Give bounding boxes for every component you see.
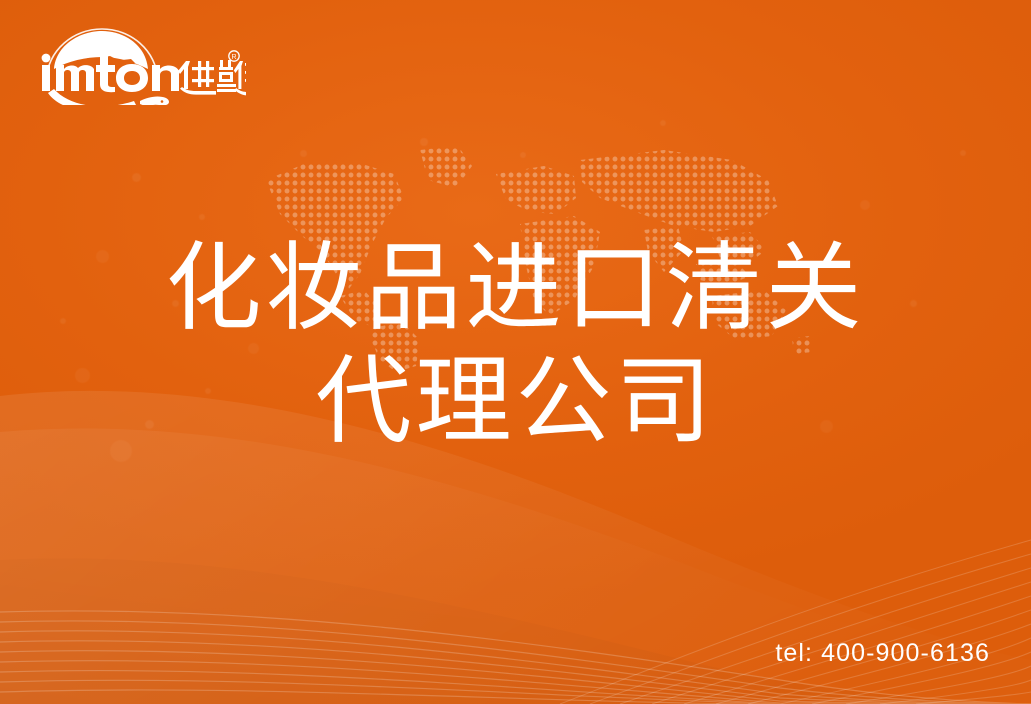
promo-banner: R 化妆品进口清关 代理公司 tel: 400-900-6136 bbox=[0, 0, 1031, 704]
brand-logo[interactable]: R bbox=[36, 27, 246, 105]
brand-wordmark-chinese bbox=[178, 60, 246, 95]
telephone-label: tel: 400-900-6136 bbox=[775, 639, 990, 668]
registered-trademark-icon: R bbox=[229, 51, 239, 61]
headline-line-1: 化妆品进口清关 bbox=[0, 232, 1031, 345]
headline-line-2: 代理公司 bbox=[0, 345, 1031, 458]
svg-text:R: R bbox=[231, 54, 236, 61]
headline: 化妆品进口清关 代理公司 bbox=[0, 232, 1031, 458]
